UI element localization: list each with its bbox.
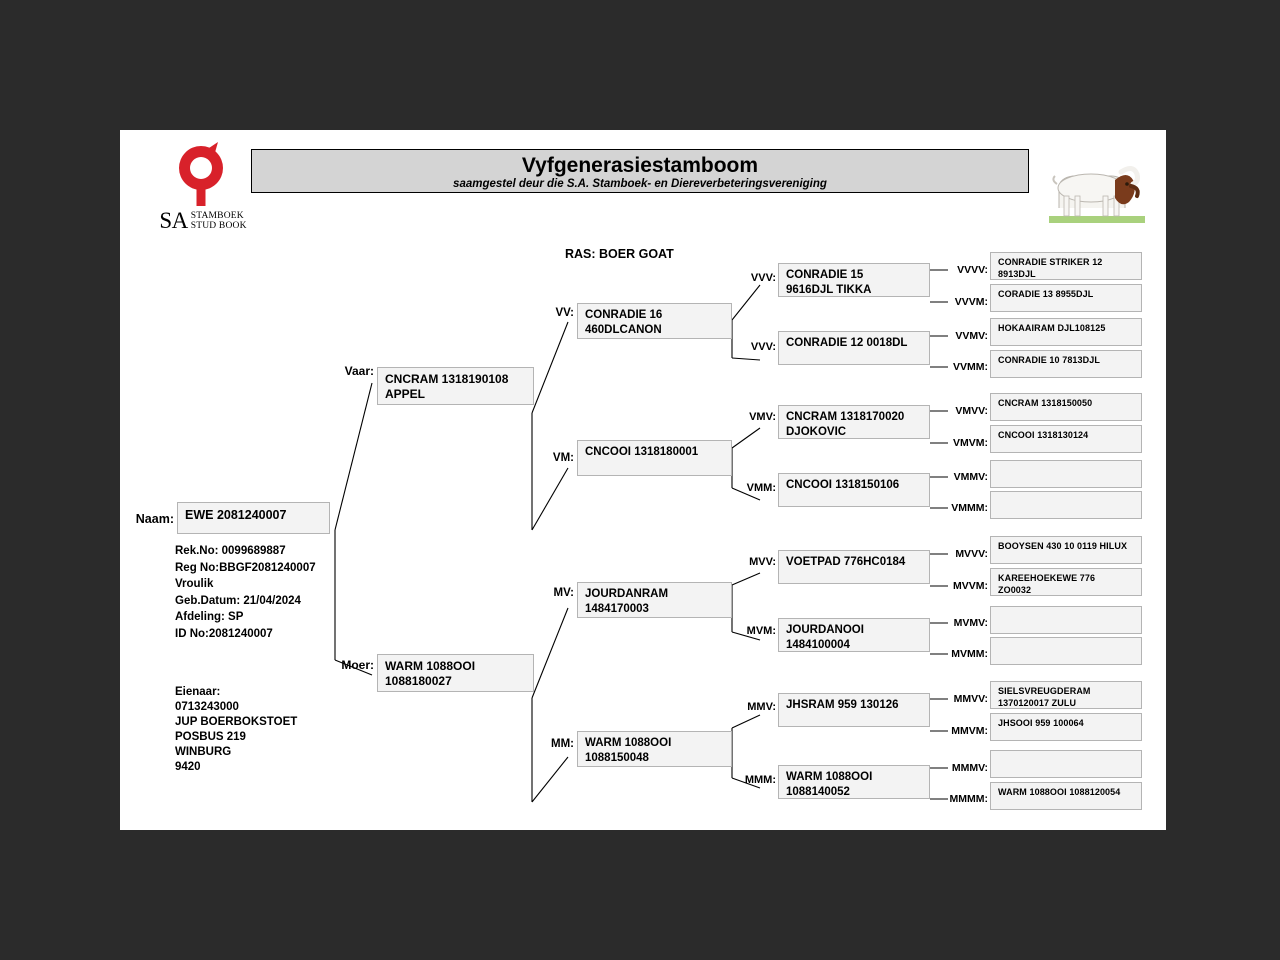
gen5-box-vmvv: CNCRAM 1318150050 bbox=[990, 393, 1142, 421]
gen2-vaar-line1: CNCRAM 1318190108 bbox=[385, 372, 527, 387]
document-title-banner: Vyfgenerasiestamboom saamgestel deur die… bbox=[251, 149, 1029, 193]
detail-id-no: ID No:2081240007 bbox=[175, 628, 273, 640]
gen4-mmv-line1: JHSRAM 959 130126 bbox=[786, 698, 923, 713]
detail-reg-no: Reg No:BBGF2081240007 bbox=[175, 562, 316, 574]
gen5-label-vvmv: VVMV: bbox=[945, 330, 988, 342]
gen4-box-mmv: JHSRAM 959 130126 bbox=[778, 693, 930, 727]
gen4-mvm-line1: JOURDANOOI bbox=[786, 623, 923, 638]
gen4-box-vmm: CNCOOI 1318150106 bbox=[778, 473, 930, 507]
gen5-mmvv-line1: SIELSVREUGDERAM bbox=[998, 686, 1135, 698]
gen4-vvv1-line2: 9616DJL TIKKA bbox=[786, 283, 923, 298]
gen5-mvvm-line2: ZO0032 bbox=[998, 585, 1135, 597]
gen4-label-vvv-1: VVV: bbox=[732, 272, 776, 284]
breed-label: RAS: BOER GOAT bbox=[565, 247, 674, 261]
gen3-label-vm: VM: bbox=[532, 452, 574, 464]
gen4-label-mmv: MMV: bbox=[728, 701, 776, 713]
gen4-label-mvv: MVV: bbox=[730, 556, 776, 568]
gen5-mmvv-line2: 1370120017 ZULU bbox=[998, 698, 1135, 710]
owner-details: Eienaar: 0713243000 JUP BOERBOKSTOET POS… bbox=[175, 685, 297, 775]
gen4-vmv-line1: CNCRAM 1318170020 bbox=[786, 410, 923, 425]
gen5-label-vmmm: VMMM: bbox=[939, 502, 988, 514]
sa-logo-text: SASTAMBOEKSTUD BOOK bbox=[148, 208, 258, 234]
gen5-mmvm-line1: JHSOOI 959 100064 bbox=[998, 718, 1135, 730]
gen4-mvv-line1: VOETPAD 776HC0184 bbox=[786, 555, 923, 570]
gen4-mmm-line1: WARM 1088OOI bbox=[786, 770, 923, 785]
gen5-label-mvmm: MVMM: bbox=[939, 648, 988, 660]
gen5-vvvv-line2: 8913DJL bbox=[998, 269, 1135, 281]
gen5-label-mmmm: MMMM: bbox=[936, 793, 988, 805]
gen5-box-mvmm bbox=[990, 637, 1142, 665]
gen5-label-vmvm: VMVM: bbox=[942, 437, 988, 449]
gen2-box-vaar: CNCRAM 1318190108 APPEL bbox=[377, 367, 534, 405]
gen5-label-vvvv: VVVV: bbox=[948, 264, 988, 276]
gen5-label-vmvv: VMVV: bbox=[945, 405, 988, 417]
gen5-label-vmmv: VMMV: bbox=[942, 471, 988, 483]
gen4-vvv2-line1: CONRADIE 12 0018DL bbox=[786, 336, 923, 351]
logo-sa-text: SA bbox=[159, 208, 187, 233]
gen3-mm-line1: WARM 1088OOI bbox=[585, 736, 725, 751]
gen3-box-mm: WARM 1088OOI 1088150048 bbox=[577, 731, 732, 767]
gen5-label-mvmv: MVMV: bbox=[942, 617, 988, 629]
gen5-label-mmvv: MMVV: bbox=[942, 693, 988, 705]
gen5-label-mvvv: MVVV: bbox=[945, 548, 988, 560]
subject-label: Naam: bbox=[132, 512, 174, 526]
subject-box: EWE 2081240007 bbox=[177, 502, 330, 534]
gen5-label-mvvm: MVVM: bbox=[942, 580, 988, 592]
gen4-box-vmv: CNCRAM 1318170020 DJOKOVIC bbox=[778, 405, 930, 439]
subject-name: EWE 2081240007 bbox=[185, 507, 323, 523]
gen3-label-mm: MM: bbox=[530, 738, 574, 750]
owner-address-line: POSBUS 219 bbox=[175, 731, 246, 743]
gen4-label-vvv-2: VVV: bbox=[732, 341, 776, 353]
gen4-label-mmm: MMM: bbox=[725, 774, 776, 786]
gen5-box-mmvv: SIELSVREUGDERAM 1370120017 ZULU bbox=[990, 681, 1142, 709]
gen5-mmmm-line1: WARM 1088OOI 1088120054 bbox=[998, 787, 1135, 799]
sa-stud-book-logo: SASTAMBOEKSTUD BOOK bbox=[148, 140, 258, 245]
gen3-mv-line1: JOURDANRAM bbox=[585, 587, 725, 602]
gen4-mvm-line2: 1484100004 bbox=[786, 638, 923, 653]
detail-sex: Vroulik bbox=[175, 578, 213, 590]
sa-logo-mark-icon bbox=[170, 140, 232, 208]
gen4-box-vvv-1: CONRADIE 15 9616DJL TIKKA bbox=[778, 263, 930, 297]
gen4-label-mvm: MVM: bbox=[728, 625, 776, 637]
gen4-vvv1-line1: CONRADIE 15 bbox=[786, 268, 923, 283]
gen4-label-vmm: VMM: bbox=[728, 482, 776, 494]
gen5-label-vvvm: VVVM: bbox=[945, 296, 988, 308]
gen2-label-vaar: Vaar: bbox=[330, 364, 374, 378]
owner-city: WINBURG bbox=[175, 746, 231, 758]
gen5-box-mmmv bbox=[990, 750, 1142, 778]
subject-details: Rek.No: 0099689887 Reg No:BBGF2081240007… bbox=[175, 543, 316, 642]
owner-postal-code: 9420 bbox=[175, 761, 201, 773]
gen2-moer-line1: WARM 1088OOI bbox=[385, 659, 527, 674]
gen2-vaar-line2: APPEL bbox=[385, 387, 527, 402]
page-subtitle: saamgestel deur die S.A. Stamboek- en Di… bbox=[252, 178, 1028, 191]
gen2-moer-line2: 1088180027 bbox=[385, 674, 527, 689]
gen5-vmvm-line1: CNCOOI 1318130124 bbox=[998, 430, 1135, 442]
gen5-box-mmvm: JHSOOI 959 100064 bbox=[990, 713, 1142, 741]
gen5-vvmm-line1: CONRADIE 10 7813DJL bbox=[998, 355, 1135, 367]
gen5-box-vvmv: HOKAAIRAM DJL108125 bbox=[990, 318, 1142, 346]
gen5-label-mmvm: MMVM: bbox=[939, 725, 988, 737]
owner-heading: Eienaar: bbox=[175, 686, 220, 698]
logo-studbook-text: STUD BOOK bbox=[191, 221, 247, 231]
gen5-vvvm-line1: CORADIE 13 8955DJL bbox=[998, 289, 1135, 301]
gen5-mvvv-line1: BOOYSEN 430 10 0119 HILUX bbox=[998, 541, 1135, 553]
gen4-mmm-line2: 1088140052 bbox=[786, 785, 923, 800]
gen4-box-mmm: WARM 1088OOI 1088140052 bbox=[778, 765, 930, 799]
detail-afdeling: Afdeling: SP bbox=[175, 611, 243, 623]
gen5-box-vmvm: CNCOOI 1318130124 bbox=[990, 425, 1142, 453]
gen3-box-vm: CNCOOI 1318180001 bbox=[577, 440, 732, 476]
gen3-mm-line2: 1088150048 bbox=[585, 751, 725, 766]
gen4-vmv-line2: DJOKOVIC bbox=[786, 425, 923, 440]
gen3-vm-line1: CNCOOI 1318180001 bbox=[585, 445, 725, 460]
gen5-box-vmmm bbox=[990, 491, 1142, 519]
gen4-box-mvm: JOURDANOOI 1484100004 bbox=[778, 618, 930, 652]
gen4-box-mvv: VOETPAD 776HC0184 bbox=[778, 550, 930, 584]
gen5-box-vvmm: CONRADIE 10 7813DJL bbox=[990, 350, 1142, 378]
gen5-vvmv-line1: HOKAAIRAM DJL108125 bbox=[998, 323, 1135, 335]
gen3-vv-line2: 460DLCANON bbox=[585, 323, 725, 338]
gen3-mv-line2: 1484170003 bbox=[585, 602, 725, 617]
gen5-box-vvvv: CONRADIE STRIKER 12 8913DJL bbox=[990, 252, 1142, 280]
detail-birth-date: Geb.Datum: 21/04/2024 bbox=[175, 595, 301, 607]
gen3-vv-line1: CONRADIE 16 bbox=[585, 308, 725, 323]
gen5-box-mvvv: BOOYSEN 430 10 0119 HILUX bbox=[990, 536, 1142, 564]
logo-stamboek-text: STAMBOEK bbox=[191, 211, 244, 221]
gen3-box-vv: CONRADIE 16 460DLCANON bbox=[577, 303, 732, 339]
gen5-box-mmmm: WARM 1088OOI 1088120054 bbox=[990, 782, 1142, 810]
gen5-box-mvmv bbox=[990, 606, 1142, 634]
gen3-label-vv: VV: bbox=[534, 307, 574, 319]
detail-rek-no: Rek.No: 0099689887 bbox=[175, 545, 286, 557]
gen5-box-vvvm: CORADIE 13 8955DJL bbox=[990, 284, 1142, 312]
gen4-box-vvv-2: CONRADIE 12 0018DL bbox=[778, 331, 930, 365]
gen5-box-mvvm: KAREEHOEKEWE 776 ZO0032 bbox=[990, 568, 1142, 596]
gen5-label-vvmm: VVMM: bbox=[942, 361, 988, 373]
gen5-box-vmmv bbox=[990, 460, 1142, 488]
pedigree-document: SASTAMBOEKSTUD BOOK Vyfgenerasiestamboom… bbox=[120, 130, 1166, 830]
gen2-box-moer: WARM 1088OOI 1088180027 bbox=[377, 654, 534, 692]
gen3-box-mv: JOURDANRAM 1484170003 bbox=[577, 582, 732, 618]
owner-name: JUP BOERBOKSTOET bbox=[175, 716, 297, 728]
gen2-label-moer: Moer: bbox=[326, 658, 374, 672]
owner-phone: 0713243000 bbox=[175, 701, 239, 713]
gen3-label-mv: MV: bbox=[532, 587, 574, 599]
gen5-vvvv-line1: CONRADIE STRIKER 12 bbox=[998, 257, 1135, 269]
page-title: Vyfgenerasiestamboom bbox=[252, 153, 1028, 178]
boer-goat-illustration bbox=[1045, 150, 1150, 228]
gen5-label-mmmv: MMMV: bbox=[939, 762, 988, 774]
gen4-vmm-line1: CNCOOI 1318150106 bbox=[786, 478, 923, 493]
gen5-mvvm-line1: KAREEHOEKEWE 776 bbox=[998, 573, 1135, 585]
gen5-vmvv-line1: CNCRAM 1318150050 bbox=[998, 398, 1135, 410]
gen4-label-vmv: VMV: bbox=[730, 411, 776, 423]
